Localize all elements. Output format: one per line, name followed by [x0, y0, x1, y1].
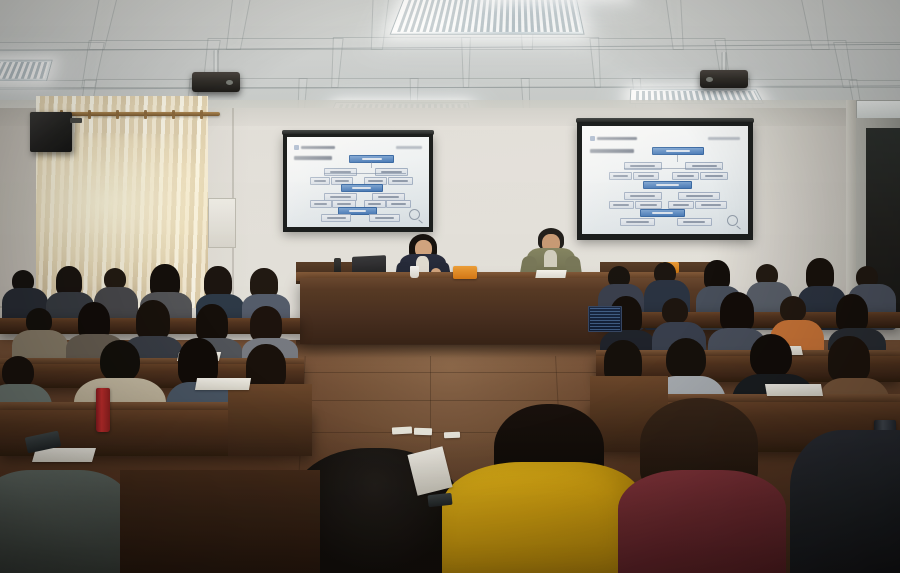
paper-on-floor	[414, 428, 432, 436]
presenter-right-shirt	[544, 250, 557, 267]
student-foreground-left-edge	[0, 470, 130, 573]
wall-speaker-icon	[30, 112, 72, 152]
slide-node	[672, 172, 699, 180]
slide-logo-icon	[590, 136, 637, 141]
slide-node	[609, 201, 634, 209]
slide-node	[700, 172, 729, 180]
right-screen-frame	[577, 122, 753, 240]
ceiling-light-panel	[390, 0, 585, 35]
slide-node	[349, 155, 394, 163]
student-foreground-yellow-body	[442, 462, 642, 573]
speaker-bracket	[70, 118, 82, 123]
slide-watermark-magnifier-icon	[727, 215, 738, 226]
slide-node	[375, 168, 408, 176]
slide-node	[695, 201, 727, 209]
slide-node	[643, 181, 691, 189]
slide-node	[635, 201, 662, 209]
wall-control-panel	[208, 198, 236, 248]
slide-node	[640, 209, 685, 217]
student-foreground-right-body	[618, 470, 786, 573]
slide-node	[324, 168, 357, 176]
slide-node	[609, 172, 633, 180]
left-slide	[287, 137, 429, 227]
slide-node	[388, 177, 413, 185]
slide-node	[321, 214, 351, 222]
paper-on-floor	[392, 426, 412, 434]
slide-watermark-magnifier-icon	[409, 209, 420, 220]
red-thermos	[96, 388, 110, 432]
slide-logo-icon	[294, 145, 335, 150]
slide-node	[678, 192, 720, 200]
slide-node	[369, 214, 399, 222]
left-screen-surface	[287, 137, 429, 227]
slide-node	[310, 177, 330, 185]
smartphone	[427, 493, 452, 507]
slide-node	[633, 172, 658, 180]
paper-on-floor	[444, 432, 460, 439]
ceiling-light-panel	[0, 60, 53, 81]
handout-papers	[195, 378, 251, 390]
right-screen-surface	[582, 126, 748, 234]
lecture-hall-photo	[0, 0, 900, 573]
student-foreground-far-right	[790, 430, 900, 573]
desk-end-panel	[228, 384, 312, 456]
right-slide	[582, 126, 748, 234]
document-stack	[535, 270, 566, 278]
slide-title	[590, 149, 634, 153]
slide-node	[677, 218, 712, 226]
desk-foreground-edge	[120, 470, 320, 573]
slide-title	[294, 156, 332, 160]
ceiling-projector	[700, 52, 748, 92]
paper-cup	[410, 266, 419, 278]
slide-node	[310, 200, 332, 208]
slide-node	[341, 184, 383, 192]
handout-papers	[765, 384, 823, 396]
left-screen-frame	[283, 134, 433, 232]
ceiling-projector	[192, 50, 240, 94]
slide-header-right	[708, 137, 740, 140]
slide-node	[624, 192, 663, 200]
slide-node	[652, 147, 704, 155]
slide-node	[386, 200, 411, 208]
slide-header-right	[396, 146, 422, 149]
orange-box	[453, 266, 477, 279]
slide-node	[620, 218, 655, 226]
slide-node	[668, 201, 693, 209]
